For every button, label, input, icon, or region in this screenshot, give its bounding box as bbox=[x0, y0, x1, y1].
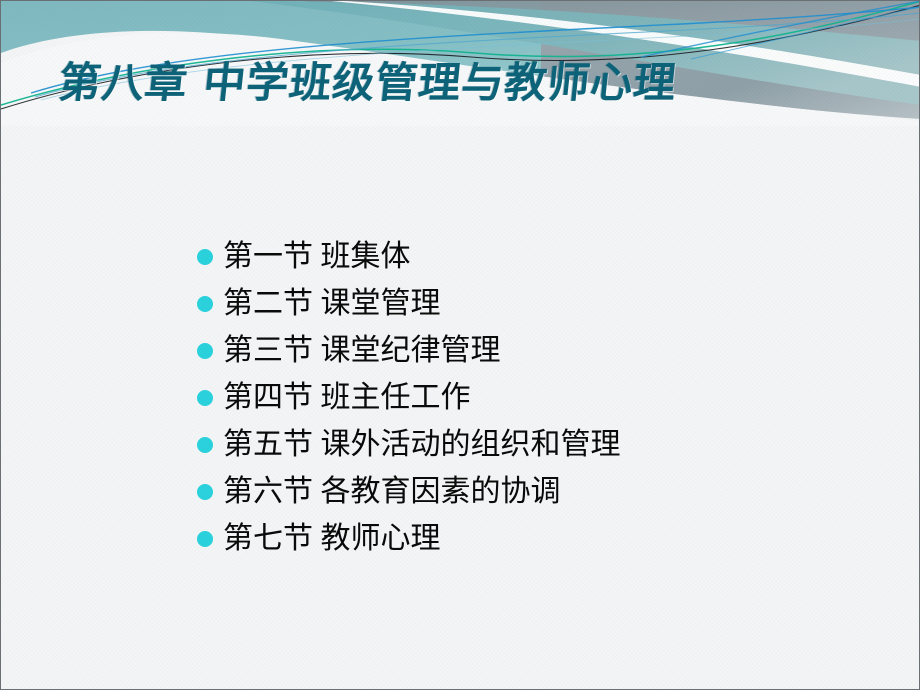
list-item-label: 第六节 各教育因素的协调 bbox=[223, 476, 561, 508]
bullet-circle-icon bbox=[197, 296, 213, 312]
bullet-circle-icon bbox=[197, 343, 213, 359]
list-item[interactable]: 第六节 各教育因素的协调 bbox=[197, 468, 621, 515]
list-item[interactable]: 第二节 课堂管理 bbox=[197, 280, 621, 327]
list-item[interactable]: 第五节 课外活动的组织和管理 bbox=[197, 421, 621, 468]
list-item-label: 第三节 课堂纪律管理 bbox=[223, 335, 501, 367]
bullet-circle-icon bbox=[197, 437, 213, 453]
bullet-circle-icon bbox=[197, 390, 213, 406]
section-list: 第一节 班集体 第二节 课堂管理 第三节 课堂纪律管理 第四节 班主任工作 第五… bbox=[197, 233, 621, 562]
bullet-circle-icon bbox=[197, 484, 213, 500]
bullet-circle-icon bbox=[197, 249, 213, 265]
slide-title: 第八章 中学班级管理与教师心理 bbox=[56, 58, 679, 108]
list-item-label: 第一节 班集体 bbox=[223, 241, 411, 273]
list-item[interactable]: 第三节 课堂纪律管理 bbox=[197, 327, 621, 374]
list-item-label: 第七节 教师心理 bbox=[223, 523, 441, 555]
list-item-label: 第四节 班主任工作 bbox=[223, 382, 471, 414]
list-item-label: 第五节 课外活动的组织和管理 bbox=[223, 429, 621, 461]
list-item[interactable]: 第四节 班主任工作 bbox=[197, 374, 621, 421]
list-item[interactable]: 第一节 班集体 bbox=[197, 233, 621, 280]
bullet-circle-icon bbox=[197, 531, 213, 547]
presentation-slide: 第八章 中学班级管理与教师心理 第一节 班集体 第二节 课堂管理 第三节 课堂纪… bbox=[0, 0, 920, 690]
list-item[interactable]: 第七节 教师心理 bbox=[197, 515, 621, 562]
list-item-label: 第二节 课堂管理 bbox=[223, 288, 441, 320]
